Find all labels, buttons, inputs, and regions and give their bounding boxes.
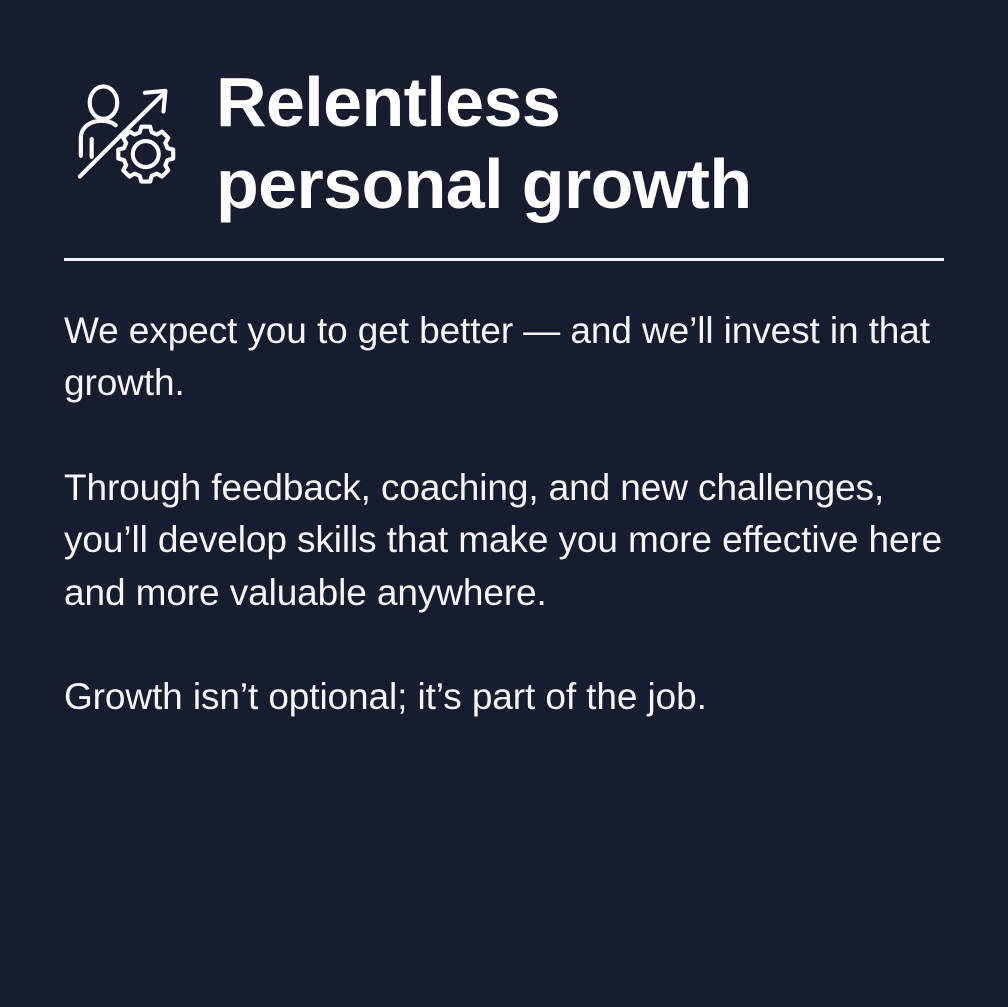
personal-growth-card: Relentless personal growth We expect you… (0, 0, 1008, 1007)
body-paragraph-3: Growth isn’t optional; it’s part of the … (64, 671, 944, 724)
page-title: Relentless personal growth (204, 62, 944, 226)
body-paragraph-2: Through feedback, coaching, and new chal… (64, 462, 944, 620)
personal-growth-icon (72, 82, 204, 214)
body-paragraph-1: We expect you to get better — and we’ll … (64, 305, 944, 410)
card-header: Relentless personal growth (0, 0, 1008, 226)
card-body: We expect you to get better — and we’ll … (0, 261, 1008, 724)
